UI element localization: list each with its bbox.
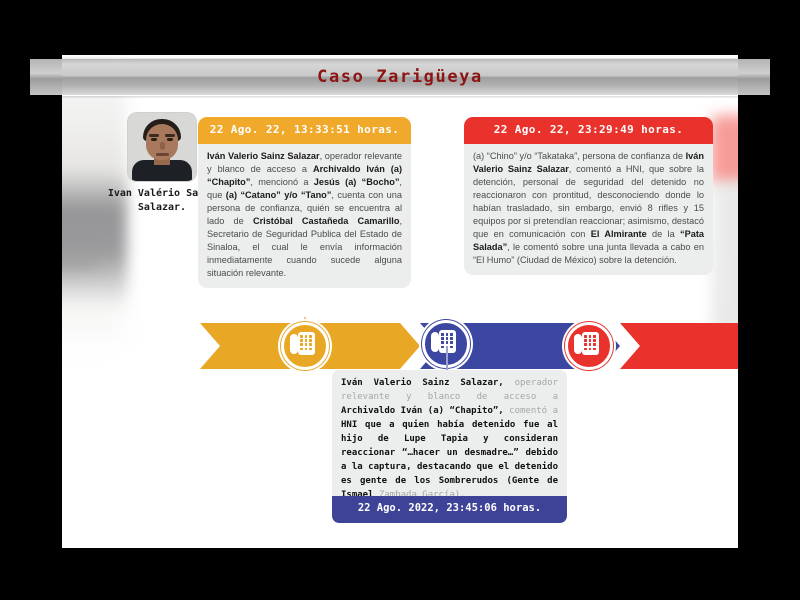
event-body-red: (a) “Chino” y/o “Takataka”, persona de c… <box>464 144 713 276</box>
event-card-yellow: 22 Ago. 22, 13:33:51 horas. Iván Valerio… <box>198 117 411 288</box>
background-ghost-caption <box>62 253 97 269</box>
content-panel: Ivan Valério Sainz Salazar. 22 Ago. 22, … <box>62 55 738 548</box>
avatar <box>128 113 196 181</box>
connector-blue <box>446 346 448 370</box>
background-ghost-red-card-text <box>714 183 738 333</box>
title-banner: Caso Zarigüeya <box>62 58 738 96</box>
page-title: Caso Zarigüeya <box>317 67 483 87</box>
background-ghost-red-card <box>710 115 738 345</box>
screenshot-stage: Ivan Valério Sainz Salazar. 22 Ago. 22, … <box>0 0 800 600</box>
event-body-bottom: Iván Valerio Sainz Salazar, operador rel… <box>332 370 567 506</box>
event-timestamp-red: 22 Ago. 22, 23:29:49 horas. <box>464 117 713 144</box>
phone-keypad-icon[interactable] <box>280 321 330 371</box>
phone-keypad-icon[interactable] <box>564 321 614 371</box>
event-timestamp-bottom: 22 Ago. 2022, 23:45:06 horas. <box>332 496 567 522</box>
event-card-red: 22 Ago. 22, 23:29:49 horas. (a) “Chino” … <box>464 117 713 275</box>
timeline-segment-red <box>620 323 738 369</box>
event-card-bottom: Iván Valerio Sainz Salazar, operador rel… <box>332 370 567 523</box>
timeline <box>62 323 738 369</box>
event-body-yellow: Iván Valerio Sainz Salazar, operador rel… <box>198 144 411 289</box>
event-timestamp-yellow: 22 Ago. 22, 13:33:51 horas. <box>198 117 411 144</box>
